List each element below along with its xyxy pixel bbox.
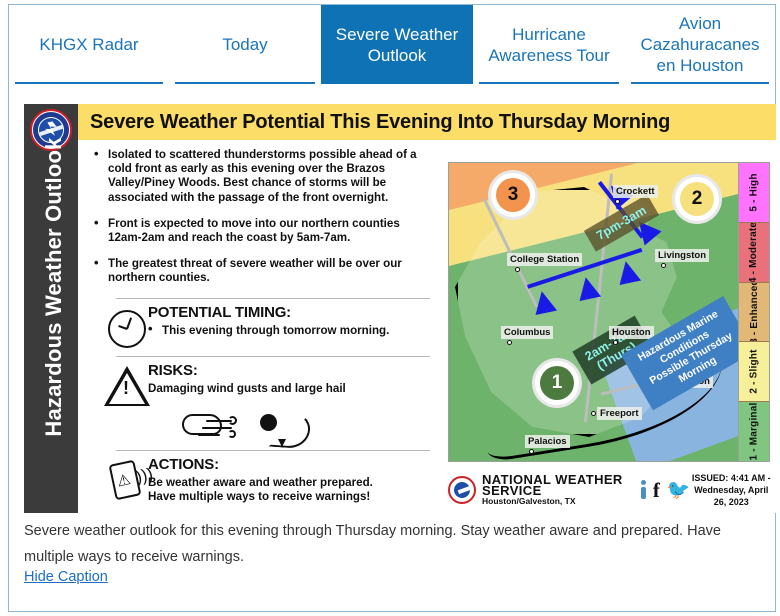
issued-timestamp: ISSUED: 4:41 AM - Wednesday, April 26, 2… — [691, 472, 776, 508]
hail-stone-icon — [260, 412, 314, 446]
legend-label: 4 - Moderate — [749, 223, 760, 283]
twitter-icon: 🐦 — [667, 481, 691, 500]
risk-badge-1: 1 — [535, 361, 579, 405]
city-dot — [615, 199, 620, 204]
city-label: College Station — [507, 253, 582, 266]
bullet-list: Isolated to scattered thunderstorms poss… — [86, 148, 440, 286]
legend-label: 3 - Enhanced — [749, 283, 760, 343]
city-label: Freeport — [597, 407, 642, 420]
list-item: Front is expected to move into our north… — [108, 217, 436, 245]
tab-label: Severe Weather Outlook — [327, 24, 467, 66]
city-dot — [591, 411, 596, 416]
section-heading: ACTIONS: — [148, 456, 440, 473]
section-heading: RISKS: — [148, 362, 440, 379]
agency-name: NATIONAL WEATHER SERVICE — [482, 474, 631, 496]
city-dot — [661, 263, 666, 268]
risk-icon-row — [182, 412, 440, 446]
legend-label: 1 - Marginal — [749, 403, 760, 461]
risk-badge-value: 2 — [680, 182, 714, 216]
legend-item-high: 5 - High — [739, 163, 769, 223]
tab-bar: KHGX Radar Today Severe Weather Outlook … — [9, 5, 775, 84]
risk-badge-value: 3 — [496, 178, 530, 212]
list-item: The greatest threat of severe weather wi… — [108, 257, 436, 285]
instagram-icon — [641, 480, 646, 500]
map-canvas: 7pm-3am 2am-7am (Thurs) 3 2 1 Crockett C… — [449, 163, 739, 461]
city-label: Houston — [609, 326, 654, 339]
tab-label: KHGX Radar — [39, 34, 138, 55]
legend-item-marginal: 1 - Marginal — [739, 402, 769, 461]
section-body: Damaging wind gusts and large hail — [148, 382, 440, 396]
front-pip — [615, 259, 641, 285]
phone-alert-icon: ))) — [96, 458, 142, 504]
warning-triangle-icon — [96, 364, 142, 410]
image-caption: Severe weather outlook for this evening … — [24, 518, 764, 570]
risk-badge-value: 1 — [540, 366, 574, 400]
section-actions: ))) ACTIONS: Be weather aware and weathe… — [86, 456, 440, 504]
section-body: This evening through tomorrow morning. — [148, 324, 440, 338]
front-pip — [531, 289, 557, 315]
nws-seal-icon — [448, 476, 476, 504]
graphic-side-rail: Hazardous Weather Outlook — [24, 104, 78, 513]
legend-item-moderate: 4 - Moderate — [739, 223, 769, 283]
graphic-sidebar-title: Hazardous Weather Outlook — [41, 137, 67, 437]
graphic-banner: Severe Weather Potential This Evening In… — [78, 104, 776, 140]
tab-label: Avion Cazahuracanes en Houston — [631, 13, 769, 76]
tab-khgx-radar[interactable]: KHGX Radar — [9, 5, 169, 84]
legend-label: 2 - Slight — [749, 350, 760, 394]
tab-label: Today — [222, 34, 267, 55]
social-icons: f 🐦 — [641, 480, 691, 501]
list-item: Isolated to scattered thunderstorms poss… — [108, 148, 436, 205]
agency-office: Houston/Galveston, TX — [482, 496, 631, 507]
city-dot — [613, 340, 618, 345]
outlook-map[interactable]: 7pm-3am 2am-7am (Thurs) 3 2 1 Crockett C… — [448, 162, 770, 462]
wind-gust-icon — [182, 412, 242, 444]
hide-caption-link[interactable]: Hide Caption — [24, 569, 108, 585]
tab-today[interactable]: Today — [169, 5, 321, 84]
graphic-banner-title: Severe Weather Potential This Evening In… — [78, 111, 670, 134]
tab-severe-weather-outlook[interactable]: Severe Weather Outlook — [321, 5, 473, 84]
clock-icon — [96, 306, 142, 352]
legend-label: 5 - High — [749, 173, 760, 211]
tab-label: Hurricane Awareness Tour — [479, 24, 619, 66]
risk-legend: 5 - High 4 - Moderate 3 - Enhanced 2 - S… — [738, 163, 769, 461]
section-heading: POTENTIAL TIMING: — [148, 304, 440, 321]
section-potential-timing: POTENTIAL TIMING: This evening through t… — [86, 304, 440, 352]
city-label: Palacios — [525, 435, 570, 448]
legend-item-enhanced: 3 - Enhanced — [739, 283, 769, 343]
section-body: Be weather aware and weather prepared. H… — [148, 476, 440, 504]
risk-badge-3: 3 — [491, 173, 535, 217]
issued-line-1: ISSUED: 4:41 AM - — [691, 472, 772, 484]
agency-text: NATIONAL WEATHER SERVICE Houston/Galvest… — [482, 474, 631, 507]
hazardous-weather-outlook-graphic[interactable]: Hazardous Weather Outlook Severe Weather… — [24, 104, 776, 513]
city-label: Crockett — [613, 185, 658, 198]
facebook-icon: f — [653, 480, 660, 501]
page-root: KHGX Radar Today Severe Weather Outlook … — [0, 0, 780, 616]
graphic-footer: NATIONAL WEATHER SERVICE Houston/Galvest… — [448, 470, 776, 510]
tab-avion-cazahuracanes[interactable]: Avion Cazahuracanes en Houston — [625, 5, 775, 84]
tab-hurricane-awareness-tour[interactable]: Hurricane Awareness Tour — [473, 5, 625, 84]
divider — [116, 298, 430, 299]
city-dot — [507, 340, 512, 345]
city-label: Columbus — [501, 326, 553, 339]
section-risks: RISKS: Damaging wind gusts and large hai… — [86, 362, 440, 410]
graphic-text-column: Isolated to scattered thunderstorms poss… — [78, 142, 444, 513]
divider — [116, 356, 430, 357]
issued-line-2: Wednesday, April 26, 2023 — [691, 484, 772, 508]
divider — [116, 450, 430, 451]
city-label: Livingston — [655, 249, 709, 262]
legend-item-slight: 2 - Slight — [739, 342, 769, 402]
city-dot — [515, 267, 520, 272]
risk-badge-2: 2 — [675, 177, 719, 221]
front-pip — [575, 275, 601, 301]
city-dot — [529, 449, 534, 454]
